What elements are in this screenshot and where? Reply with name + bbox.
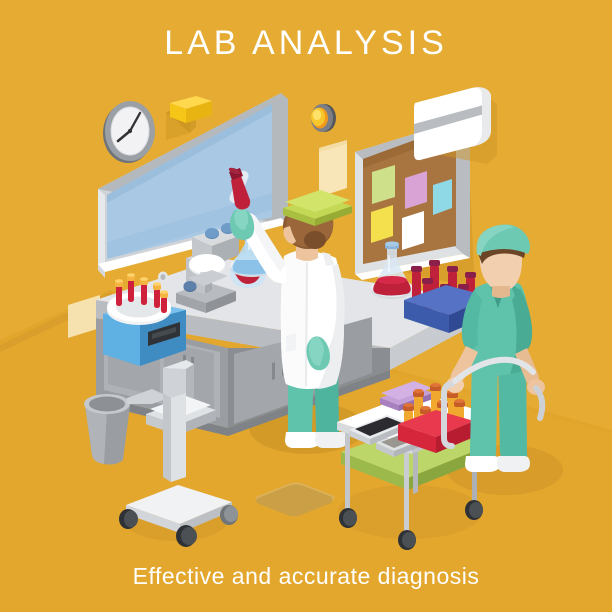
poster-illustration: LAB ANALYSIS Effective and accurate diag… xyxy=(0,0,612,612)
lab-scene-svg xyxy=(0,0,612,612)
cabinet-handle-3 xyxy=(272,362,275,380)
alarm-light xyxy=(311,104,336,132)
wall-paper-note xyxy=(319,140,347,197)
